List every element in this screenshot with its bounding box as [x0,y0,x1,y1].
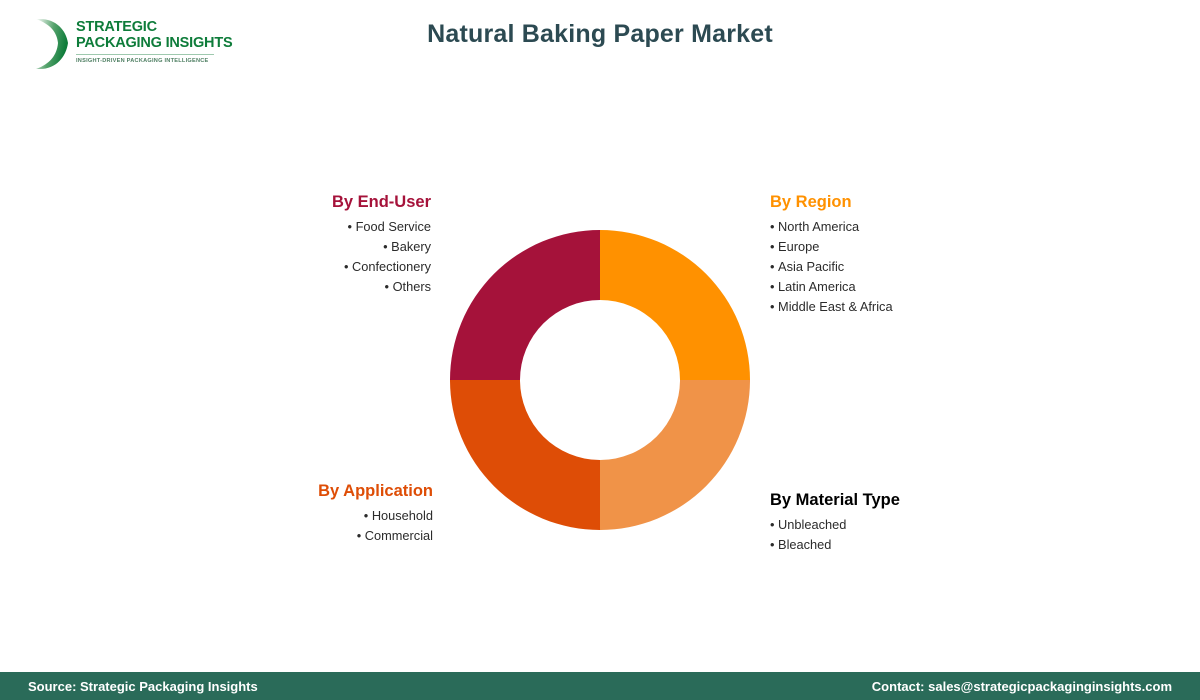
segment-list-region: North America Europe Asia Pacific Latin … [770,217,1030,317]
list-item: Latin America [770,277,1030,297]
brand-logo-divider [76,54,214,55]
segment-group-material-type: By Material Type Unbleached Bleached [770,491,1030,555]
list-item: North America [770,217,1030,237]
list-item: Household [195,506,433,526]
list-item: Commercial [195,526,433,546]
list-item: Bleached [770,535,1030,555]
segment-title-application: By Application [195,482,433,501]
donut-segment-region [600,230,750,380]
footer-source: Source: Strategic Packaging Insights [28,679,258,694]
list-item: Others [205,277,431,297]
page-title: Natural Baking Paper Market [0,20,1200,49]
footer-contact: Contact: sales@strategicpackaginginsight… [872,679,1172,694]
segment-title-end-user: By End-User [205,193,431,212]
list-item: Food Service [205,217,431,237]
segment-group-region: By Region North America Europe Asia Paci… [770,193,1030,317]
list-item: Bakery [205,237,431,257]
market-segmentation-donut-chart [450,230,750,530]
list-item: Unbleached [770,515,1030,535]
segment-group-end-user: By End-User Food Service Bakery Confecti… [205,193,431,297]
list-item: Asia Pacific [770,257,1030,277]
list-item: Confectionery [205,257,431,277]
list-item: Middle East & Africa [770,297,1030,317]
brand-logo-tagline: INSIGHT-DRIVEN PACKAGING INTELLIGENCE [76,58,232,64]
list-item: Europe [770,237,1030,257]
segment-list-end-user: Food Service Bakery Confectionery Others [205,217,431,297]
segment-list-application: Household Commercial [195,506,433,546]
segment-list-material-type: Unbleached Bleached [770,515,1030,555]
segment-title-region: By Region [770,193,1030,212]
donut-segment-material-type [600,380,750,530]
donut-segment-application [450,380,600,530]
footer-bar: Source: Strategic Packaging Insights Con… [0,672,1200,700]
segment-title-material-type: By Material Type [770,491,1030,510]
segment-group-application: By Application Household Commercial [195,482,433,546]
donut-segment-end-user [450,230,600,380]
